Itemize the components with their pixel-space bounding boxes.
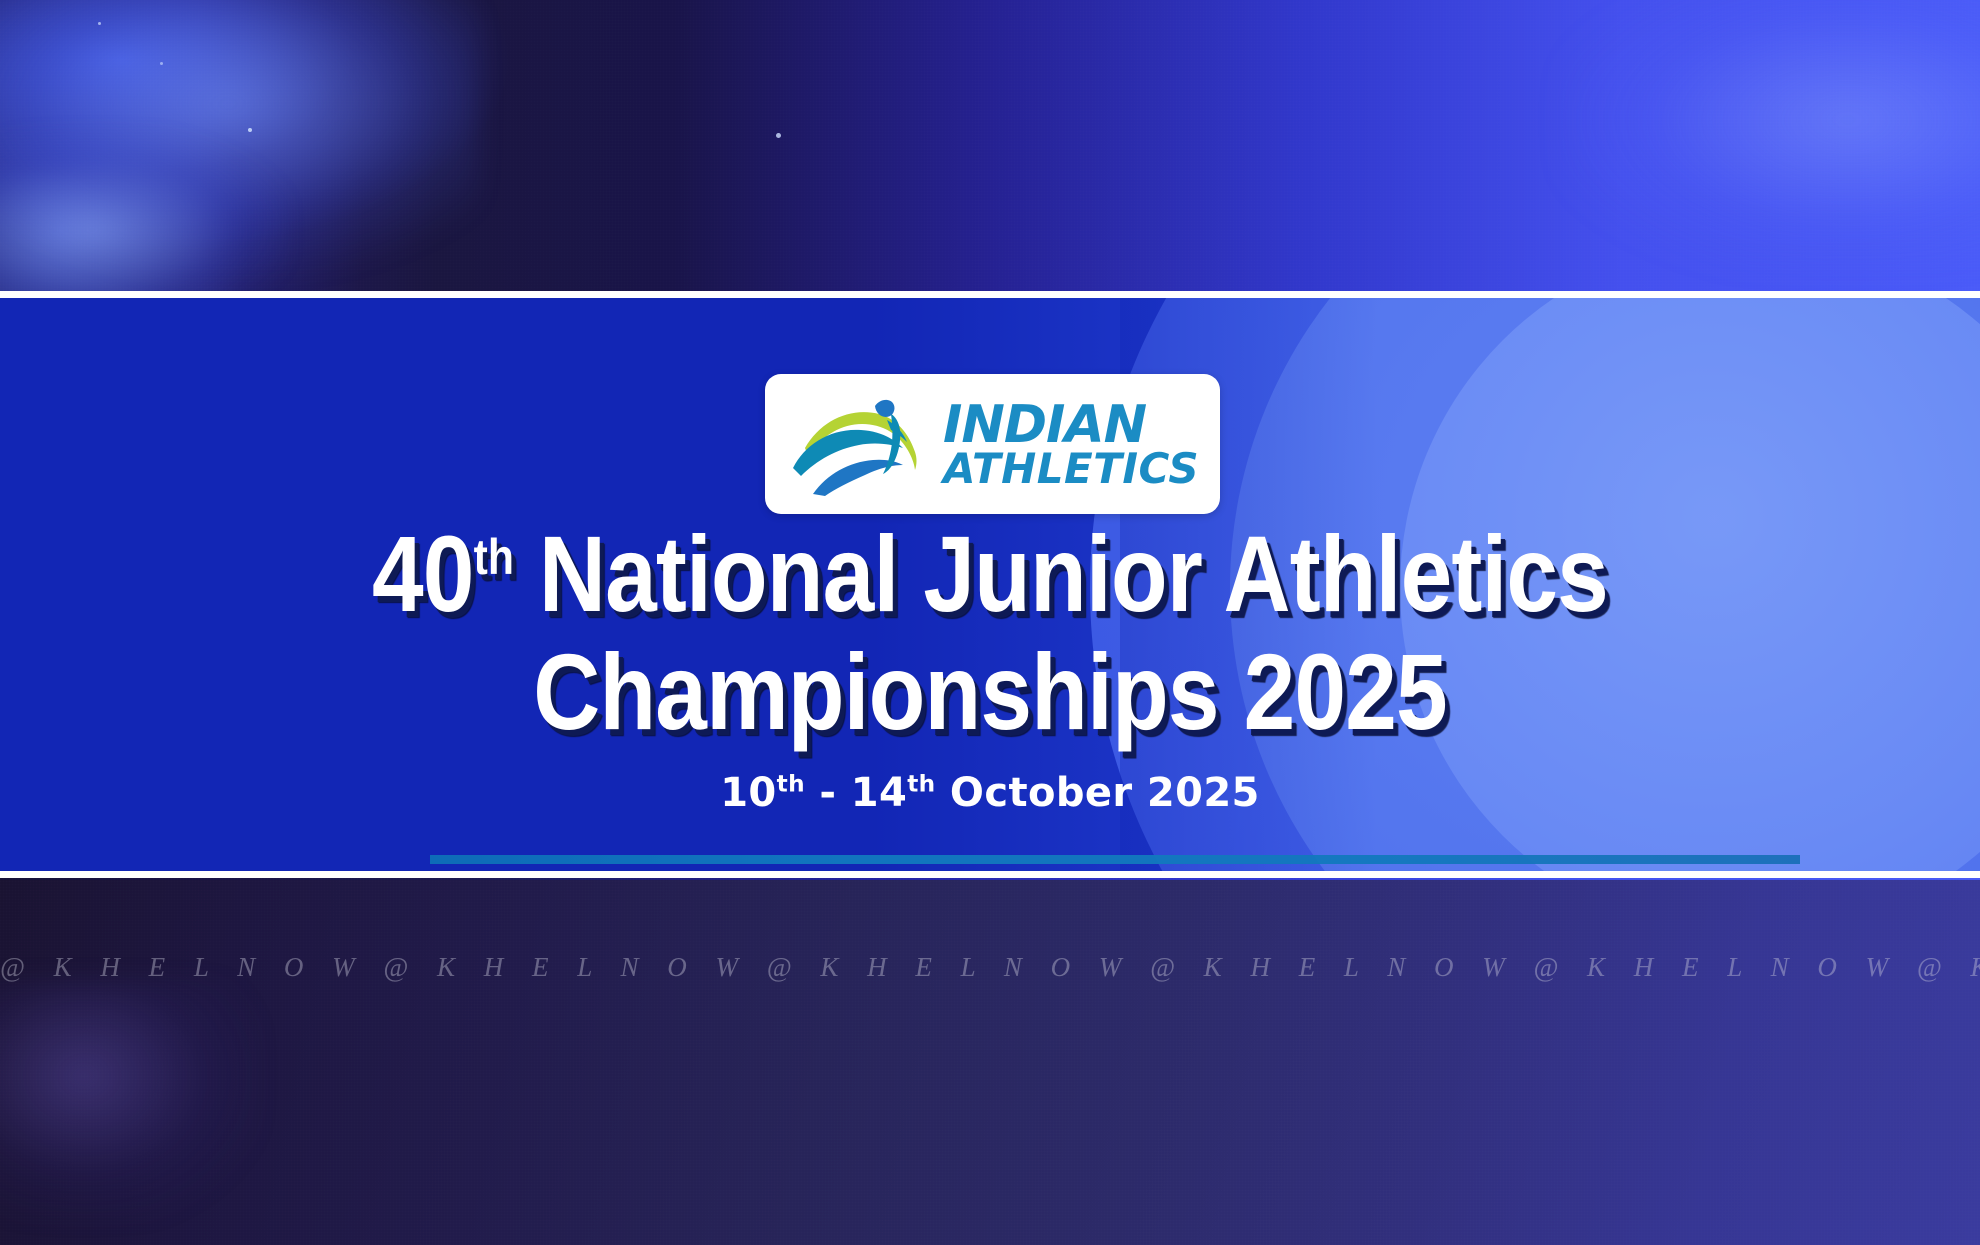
banner-title-block: 40th National Junior Athletics Champions…	[0, 520, 1980, 746]
title-line-one-rest: National Junior Athletics	[514, 513, 1608, 634]
title-ordinal-number: 40	[372, 513, 474, 634]
date-day-from: 10	[720, 770, 776, 816]
logo-word-athletics: ATHLETICS	[943, 450, 1199, 489]
title-line-one: 40th National Junior Athletics	[139, 520, 1842, 628]
event-date-line: 10th - 14th October 2025	[0, 770, 1980, 816]
title-line-two: Championships 2025	[139, 638, 1842, 746]
khelnow-watermark: @ K H E L N O W @ K H E L N O W @ K H E …	[0, 952, 1980, 983]
indian-athletics-wordmark: INDIAN ATHLETICS	[943, 400, 1199, 488]
indian-athletics-runner-icon	[787, 390, 937, 498]
date-day-from-suffix: th	[777, 771, 805, 798]
banner-bottom-divider	[0, 871, 1980, 878]
date-month-year: October 2025	[936, 770, 1260, 816]
indian-athletics-logo: INDIAN ATHLETICS	[765, 374, 1220, 514]
date-day-to-suffix: th	[907, 771, 935, 798]
date-day-to: 14	[851, 770, 907, 816]
logo-word-indian: INDIAN	[943, 402, 1199, 450]
banner-teal-strip	[430, 855, 1800, 864]
title-ordinal-suffix: th	[474, 529, 514, 585]
banner-top-divider	[0, 291, 1980, 298]
screenshot-stage: INDIAN ATHLETICS 40th National Junior At…	[0, 0, 1980, 1245]
date-range-separator: -	[805, 770, 851, 816]
